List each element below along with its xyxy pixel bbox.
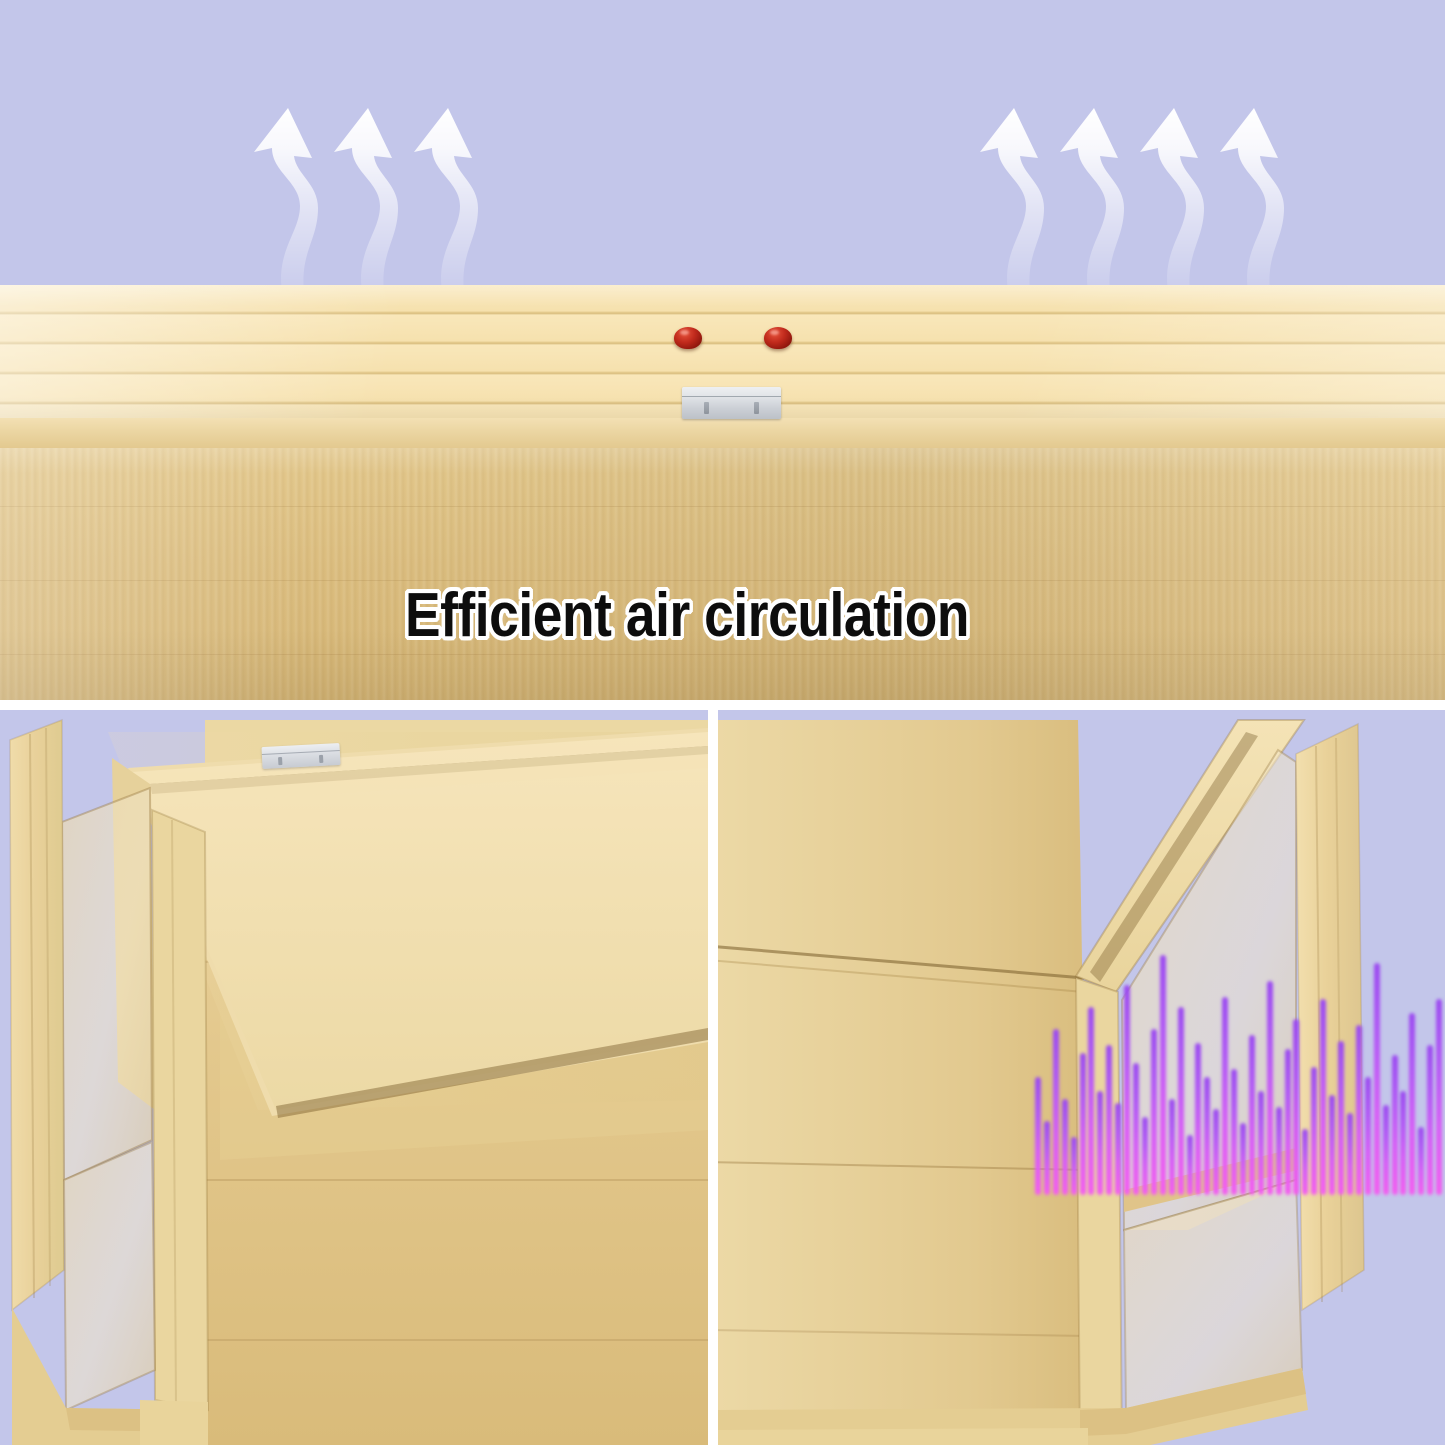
waveform-bar [1400,1091,1406,1195]
waveform-bar [1213,1109,1219,1195]
sound-waveform [1035,865,1445,1195]
bracket-screw-left [704,402,709,414]
waveform-bar [1178,1007,1184,1195]
waveform-bar [1293,1019,1299,1195]
waveform-bar [1392,1055,1398,1195]
rising-steam-arrows-left [0,0,560,300]
waveform-bar [1347,1113,1353,1195]
waveform-bar [1374,963,1380,1195]
waveform-bar [1160,955,1166,1195]
lid-front-face [0,448,1445,700]
waveform-bar [1035,1077,1041,1195]
divider-horizontal [0,700,1445,710]
waveform-bar [1053,1029,1059,1195]
waveform-bar [1365,1077,1371,1195]
waveform-bar [1222,997,1228,1195]
waveform-bar [1285,1049,1291,1195]
waveform-bar [1267,981,1273,1195]
waveform-bar [1329,1095,1335,1195]
waveform-bar [1276,1107,1282,1195]
panel-efficient-air-circulation: Efficient air circulation [0,0,1445,700]
indicator-light-left [674,327,702,349]
waveform-bar [1409,1013,1415,1195]
rising-steam-arrows-right [900,0,1300,300]
waveform-bar [1133,1063,1139,1195]
metal-hinge-plate [682,387,781,419]
waveform-bar [1195,1043,1201,1195]
waveform-bar [1258,1091,1264,1195]
waveform-bar [1187,1135,1193,1195]
waveform-bar [1097,1091,1103,1195]
waveform-bar [1311,1067,1317,1195]
waveform-bar [1302,1129,1308,1195]
waveform-bar [1356,1025,1362,1195]
waveform-bar [1151,1029,1157,1195]
waveform-bar [1080,1053,1086,1195]
bracket-screw-right [754,402,759,414]
waveform-bar [1088,1007,1094,1195]
waveform-bar [1231,1069,1237,1195]
lid-bevel-edge [0,418,1445,448]
panel-exceptional-heat-retention: Exceptional heat retention [0,710,708,1445]
waveform-bar [1204,1077,1210,1195]
waveform-bar [1427,1045,1433,1195]
wooden-box-heat-view [0,710,708,1445]
waveform-bar [1338,1041,1344,1195]
waveform-bar [1169,1099,1175,1195]
waveform-bar [1071,1137,1077,1195]
waveform-bar [1142,1117,1148,1195]
waveform-bar [1115,1103,1121,1195]
caption-efficient-air-circulation: Efficient air circulation [405,580,969,651]
waveform-bar [1383,1105,1389,1195]
waveform-bar [1124,985,1130,1195]
indicator-light-right [764,327,792,349]
divider-vertical [708,700,718,1445]
product-infographic: Efficient air circulation [0,0,1445,1445]
waveform-bar [1062,1099,1068,1195]
panel-excellent-acoustic-insulation: Excellent acoustic insulation [718,710,1445,1445]
waveform-bar [1106,1045,1112,1195]
waveform-bar [1044,1121,1050,1195]
waveform-bar [1320,999,1326,1195]
waveform-bar [1418,1127,1424,1195]
waveform-bar [1240,1123,1246,1195]
waveform-bar [1436,999,1442,1195]
waveform-bar [1249,1035,1255,1195]
lid-hinge-plate [261,743,340,769]
